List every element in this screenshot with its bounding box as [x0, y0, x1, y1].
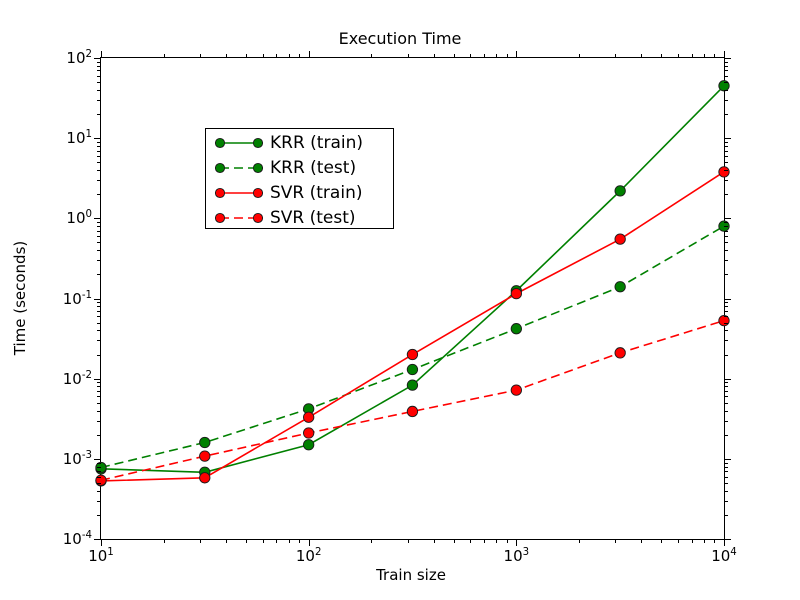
y-minor-tick: [724, 323, 728, 324]
y-minor-tick: [724, 194, 728, 195]
y-minor-tick: [724, 82, 728, 83]
x-minor-tick: [661, 54, 662, 58]
data-point-marker: [303, 428, 313, 438]
y-minor-tick: [724, 391, 728, 392]
y-tick-mark: [724, 138, 731, 139]
y-tick-mark: [724, 379, 731, 380]
data-point-marker: [200, 437, 210, 447]
x-minor-tick: [263, 539, 264, 543]
legend-label: SVR (train): [270, 183, 362, 203]
x-tick-mark: [724, 51, 725, 58]
y-minor-tick: [97, 421, 101, 422]
legend-line-icon: [215, 133, 263, 153]
data-point-marker: [615, 234, 625, 244]
y-minor-tick: [97, 311, 101, 312]
data-point-marker: [615, 348, 625, 358]
y-minor-tick: [724, 435, 728, 436]
y-minor-tick: [97, 491, 101, 492]
y-minor-tick: [97, 403, 101, 404]
x-tick-label: 101: [88, 547, 114, 565]
y-minor-tick: [97, 82, 101, 83]
x-minor-tick: [507, 539, 508, 543]
y-minor-tick: [97, 170, 101, 171]
series-canvas: [101, 58, 724, 539]
y-tick-mark: [724, 58, 731, 59]
y-minor-tick: [97, 316, 101, 317]
y-minor-tick: [724, 114, 728, 115]
legend-label: KRR (test): [270, 158, 356, 178]
y-minor-tick: [724, 170, 728, 171]
data-point-marker: [200, 451, 210, 461]
x-minor-tick: [454, 54, 455, 58]
y-minor-tick: [97, 515, 101, 516]
y-minor-tick: [724, 411, 728, 412]
x-tick-mark: [101, 51, 102, 58]
y-minor-tick: [724, 515, 728, 516]
legend-swatch: [215, 208, 263, 228]
x-minor-tick: [289, 54, 290, 58]
data-point-marker: [407, 406, 417, 416]
x-tick-mark: [309, 539, 310, 546]
y-minor-tick: [724, 340, 728, 341]
x-minor-tick: [714, 539, 715, 543]
y-minor-tick: [97, 386, 101, 387]
data-point-marker: [719, 167, 729, 177]
x-minor-tick: [246, 539, 247, 543]
y-minor-tick: [724, 471, 728, 472]
x-minor-tick: [408, 54, 409, 58]
y-minor-tick: [97, 62, 101, 63]
legend-item: KRR (train): [206, 130, 393, 155]
y-tick-mark: [724, 218, 731, 219]
x-minor-tick: [434, 539, 435, 543]
x-minor-tick: [454, 539, 455, 543]
legend-swatch: [215, 183, 263, 203]
x-tick-mark: [309, 51, 310, 58]
x-minor-tick: [246, 54, 247, 58]
x-minor-tick: [276, 539, 277, 543]
y-minor-tick: [97, 231, 101, 232]
y-minor-tick: [724, 146, 728, 147]
y-minor-tick: [724, 477, 728, 478]
y-minor-tick: [97, 242, 101, 243]
y-minor-tick: [97, 151, 101, 152]
x-tick-mark: [724, 539, 725, 546]
y-minor-tick: [97, 477, 101, 478]
data-point-marker: [303, 440, 313, 450]
y-minor-tick: [97, 411, 101, 412]
y-tick-mark: [94, 218, 101, 219]
y-minor-tick: [97, 156, 101, 157]
data-point-marker: [407, 380, 417, 390]
y-tick-label: 10-3: [63, 450, 92, 468]
y-minor-tick: [724, 396, 728, 397]
x-minor-tick: [615, 54, 616, 58]
y-minor-tick: [724, 463, 728, 464]
y-tick-mark: [94, 539, 101, 540]
x-minor-tick: [299, 54, 300, 58]
y-minor-tick: [97, 146, 101, 147]
y-minor-tick: [724, 491, 728, 492]
series-line: [101, 172, 724, 481]
legend-swatch: [215, 133, 263, 153]
y-minor-tick: [724, 156, 728, 157]
y-minor-tick: [724, 66, 728, 67]
x-minor-tick: [678, 54, 679, 58]
x-minor-tick: [692, 54, 693, 58]
y-minor-tick: [724, 403, 728, 404]
y-minor-tick: [97, 274, 101, 275]
y-minor-tick: [724, 386, 728, 387]
y-minor-tick: [724, 330, 728, 331]
y-axis-label: Time (seconds): [11, 241, 29, 356]
x-minor-tick: [484, 54, 485, 58]
y-minor-tick: [97, 323, 101, 324]
y-tick-label: 101: [66, 129, 92, 147]
x-minor-tick: [470, 539, 471, 543]
y-tick-mark: [94, 138, 101, 139]
data-point-marker: [200, 473, 210, 483]
x-minor-tick: [200, 539, 201, 543]
series-line: [101, 321, 724, 481]
y-minor-tick: [97, 391, 101, 392]
x-tick-label: 102: [296, 547, 322, 565]
y-tick-mark: [94, 58, 101, 59]
x-minor-tick: [704, 539, 705, 543]
y-minor-tick: [724, 483, 728, 484]
y-minor-tick: [97, 435, 101, 436]
y-minor-tick: [97, 306, 101, 307]
legend-item: SVR (test): [206, 205, 393, 230]
x-minor-tick: [299, 539, 300, 543]
y-minor-tick: [724, 70, 728, 71]
legend-label: KRR (train): [270, 133, 363, 153]
y-minor-tick: [724, 421, 728, 422]
x-minor-tick: [641, 54, 642, 58]
plot-area: 10-410-310-210-1100101102101102103104 KR…: [100, 57, 725, 540]
y-minor-tick: [97, 76, 101, 77]
x-tick-mark: [101, 539, 102, 546]
matplotlib-figure: Execution Time Time (seconds) Train size…: [0, 0, 800, 600]
x-minor-tick: [371, 539, 372, 543]
y-minor-tick: [97, 194, 101, 195]
x-minor-tick: [164, 539, 165, 543]
y-minor-tick: [724, 100, 728, 101]
x-minor-tick: [470, 54, 471, 58]
y-minor-tick: [97, 250, 101, 251]
y-minor-tick: [724, 250, 728, 251]
data-point-marker: [407, 364, 417, 374]
x-minor-tick: [692, 539, 693, 543]
y-minor-tick: [724, 316, 728, 317]
x-minor-tick: [496, 539, 497, 543]
y-minor-tick: [724, 355, 728, 356]
x-minor-tick: [226, 54, 227, 58]
y-minor-tick: [97, 501, 101, 502]
data-point-marker: [511, 288, 521, 298]
data-point-marker: [303, 412, 313, 422]
y-minor-tick: [97, 463, 101, 464]
x-minor-tick: [484, 539, 485, 543]
y-tick-label: 10-2: [63, 370, 92, 388]
y-minor-tick: [724, 76, 728, 77]
legend-line-icon: [215, 208, 263, 228]
page-title: Execution Time: [0, 29, 800, 48]
y-minor-tick: [97, 236, 101, 237]
y-tick-label: 10-4: [63, 530, 92, 548]
y-minor-tick: [724, 306, 728, 307]
y-minor-tick: [724, 382, 728, 383]
y-minor-tick: [724, 501, 728, 502]
y-minor-tick: [724, 180, 728, 181]
legend-swatch: [215, 158, 263, 178]
data-point-marker: [615, 186, 625, 196]
x-tick-label: 103: [504, 547, 530, 565]
data-point-marker: [407, 349, 417, 359]
y-minor-tick: [97, 226, 101, 227]
y-tick-mark: [94, 299, 101, 300]
legend-label: SVR (test): [270, 208, 356, 228]
x-tick-label: 104: [711, 547, 737, 565]
data-point-marker: [511, 385, 521, 395]
y-minor-tick: [97, 114, 101, 115]
y-minor-tick: [724, 90, 728, 91]
y-minor-tick: [97, 467, 101, 468]
y-minor-tick: [97, 162, 101, 163]
y-minor-tick: [724, 222, 728, 223]
y-minor-tick: [97, 222, 101, 223]
x-minor-tick: [579, 539, 580, 543]
y-minor-tick: [724, 260, 728, 261]
legend-item: SVR (train): [206, 180, 393, 205]
y-tick-label: 102: [66, 49, 92, 67]
x-minor-tick: [641, 539, 642, 543]
x-tick-mark: [516, 539, 517, 546]
x-minor-tick: [434, 54, 435, 58]
y-minor-tick: [724, 142, 728, 143]
y-minor-tick: [97, 302, 101, 303]
x-minor-tick: [714, 54, 715, 58]
y-minor-tick: [97, 355, 101, 356]
x-minor-tick: [371, 54, 372, 58]
x-tick-mark: [516, 51, 517, 58]
legend: KRR (train)KRR (test)SVR (train)SVR (tes…: [205, 128, 394, 229]
y-minor-tick: [97, 142, 101, 143]
y-tick-label: 10-1: [63, 290, 92, 308]
y-minor-tick: [724, 274, 728, 275]
y-minor-tick: [724, 467, 728, 468]
x-minor-tick: [164, 54, 165, 58]
y-minor-tick: [724, 311, 728, 312]
y-minor-tick: [724, 162, 728, 163]
legend-line-icon: [215, 183, 263, 203]
y-minor-tick: [97, 100, 101, 101]
y-minor-tick: [97, 90, 101, 91]
x-minor-tick: [226, 539, 227, 543]
y-tick-mark: [94, 379, 101, 380]
y-minor-tick: [97, 483, 101, 484]
y-minor-tick: [97, 70, 101, 71]
y-minor-tick: [724, 226, 728, 227]
y-minor-tick: [97, 396, 101, 397]
x-minor-tick: [661, 539, 662, 543]
y-minor-tick: [97, 471, 101, 472]
y-minor-tick: [724, 242, 728, 243]
legend-item: KRR (test): [206, 155, 393, 180]
legend-line-icon: [215, 158, 263, 178]
x-axis-label: Train size: [376, 566, 446, 584]
x-minor-tick: [579, 54, 580, 58]
data-point-marker: [511, 324, 521, 334]
y-tick-label: 100: [66, 209, 92, 227]
y-minor-tick: [97, 340, 101, 341]
y-minor-tick: [97, 180, 101, 181]
x-minor-tick: [678, 539, 679, 543]
x-minor-tick: [615, 539, 616, 543]
y-minor-tick: [97, 382, 101, 383]
y-minor-tick: [724, 236, 728, 237]
y-minor-tick: [724, 62, 728, 63]
y-minor-tick: [97, 66, 101, 67]
x-minor-tick: [200, 54, 201, 58]
x-minor-tick: [408, 539, 409, 543]
y-tick-mark: [724, 539, 731, 540]
data-point-marker: [615, 282, 625, 292]
x-minor-tick: [263, 54, 264, 58]
y-minor-tick: [97, 330, 101, 331]
y-tick-mark: [724, 299, 731, 300]
x-minor-tick: [276, 54, 277, 58]
series-line: [101, 226, 724, 467]
y-minor-tick: [724, 302, 728, 303]
y-minor-tick: [724, 151, 728, 152]
y-tick-mark: [94, 459, 101, 460]
x-minor-tick: [289, 539, 290, 543]
x-minor-tick: [507, 54, 508, 58]
y-minor-tick: [97, 260, 101, 261]
y-tick-mark: [724, 459, 731, 460]
y-minor-tick: [724, 231, 728, 232]
x-minor-tick: [704, 54, 705, 58]
x-minor-tick: [496, 54, 497, 58]
